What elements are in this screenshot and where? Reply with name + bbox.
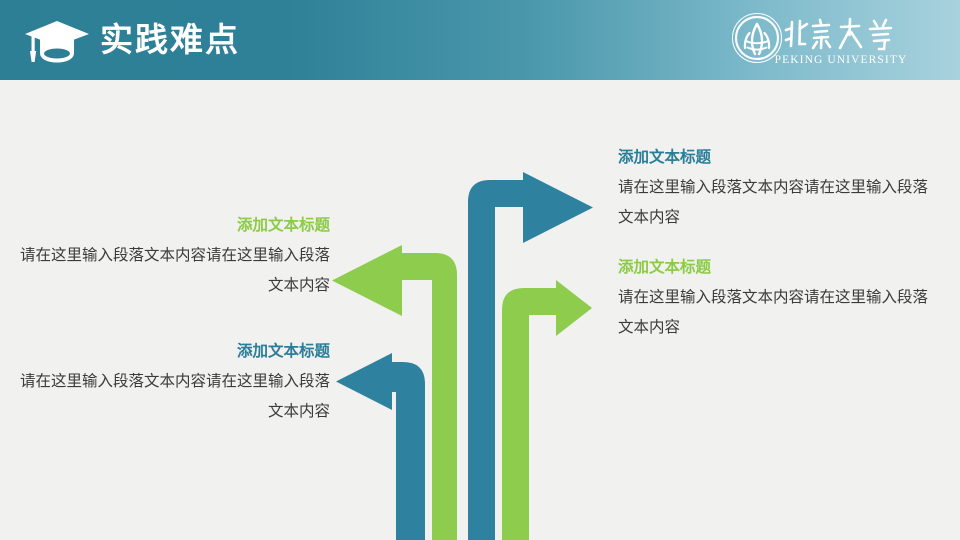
text-block-title: 添加文本标题 xyxy=(618,146,938,170)
text-block-title: 添加文本标题 xyxy=(618,256,938,280)
slide-canvas: 实践难点 xyxy=(0,0,960,540)
page-title: 实践难点 xyxy=(100,17,240,63)
text-block-body: 请在这里输入段落文本内容请在这里输入段落文本内容 xyxy=(8,367,330,427)
text-block-body: 请在这里输入段落文本内容请在这里输入段落文本内容 xyxy=(618,283,938,343)
text-block-title: 添加文本标题 xyxy=(8,340,330,364)
text-block-left-top: 添加文本标题 请在这里输入段落文本内容请在这里输入段落文本内容 xyxy=(8,214,330,301)
slide-header-bar: 实践难点 xyxy=(0,0,960,80)
pku-wordmark-cn xyxy=(786,19,891,49)
text-block-right-bottom: 添加文本标题 请在这里输入段落文本内容请在这里输入段落文本内容 xyxy=(618,256,938,343)
graduation-cap-icon xyxy=(22,16,92,66)
text-block-right-top: 添加文本标题 请在这里输入段落文本内容请在这里输入段落文本内容 xyxy=(618,146,938,233)
text-block-title: 添加文本标题 xyxy=(8,214,330,238)
pku-wordmark-en: PEKING UNIVERSITY xyxy=(775,54,908,66)
text-block-left-bottom: 添加文本标题 请在这里输入段落文本内容请在这里输入段落文本内容 xyxy=(8,340,330,427)
text-block-body: 请在这里输入段落文本内容请在这里输入段落文本内容 xyxy=(618,173,938,233)
text-block-body: 请在这里输入段落文本内容请在这里输入段落文本内容 xyxy=(8,241,330,301)
peking-university-logo: PEKING UNIVERSITY xyxy=(728,11,938,69)
